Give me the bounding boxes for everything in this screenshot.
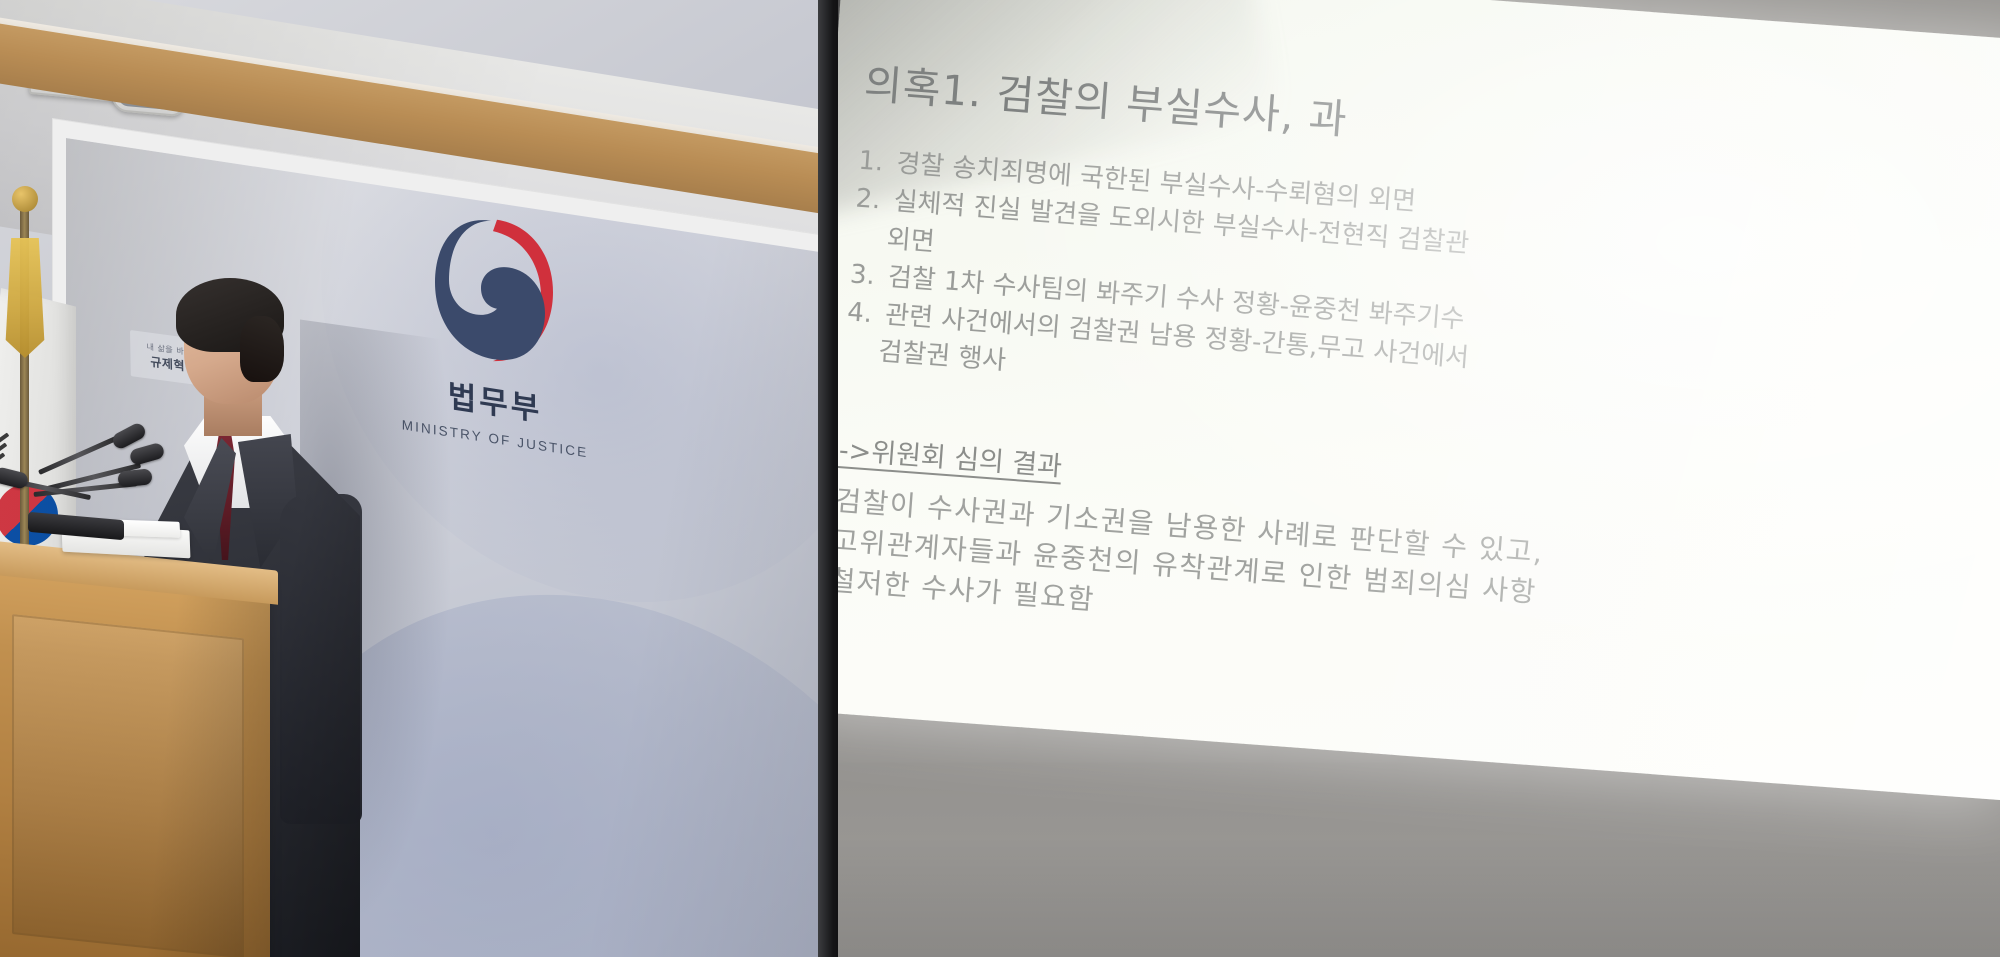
flag-finial bbox=[12, 186, 38, 212]
trigram-bar bbox=[0, 453, 5, 468]
flag-tassel bbox=[2, 238, 48, 358]
list-item-number: 2. bbox=[854, 181, 883, 219]
screen-bottom-shadow bbox=[838, 837, 2000, 957]
korea-government-taegeuk-icon bbox=[431, 204, 559, 373]
hair-side bbox=[240, 316, 284, 382]
podium-front-panel bbox=[12, 614, 244, 957]
projection-screen-area: 의혹1. 검찰의 부실수사, 과 1. 경찰 송치죄명에 국한된 부실수사-수뢰… bbox=[838, 0, 2000, 957]
press-conference-photo: 내 삶을 바꾸는 규제혁신 법무부 MINISTRY OF JUSTICE bbox=[0, 0, 2000, 957]
list-item-number: 1. bbox=[857, 144, 886, 182]
briefing-room: 내 삶을 바꾸는 규제혁신 법무부 MINISTRY OF JUSTICE bbox=[0, 0, 838, 957]
list-item-number: 4. bbox=[846, 295, 875, 333]
ministry-of-justice-logo: 법무부 MINISTRY OF JUSTICE bbox=[380, 196, 610, 481]
slide-content: 의혹1. 검찰의 부실수사, 과 1. 경찰 송치죄명에 국한된 부실수사-수뢰… bbox=[838, 0, 2000, 800]
list-item-number: 3. bbox=[849, 257, 878, 295]
